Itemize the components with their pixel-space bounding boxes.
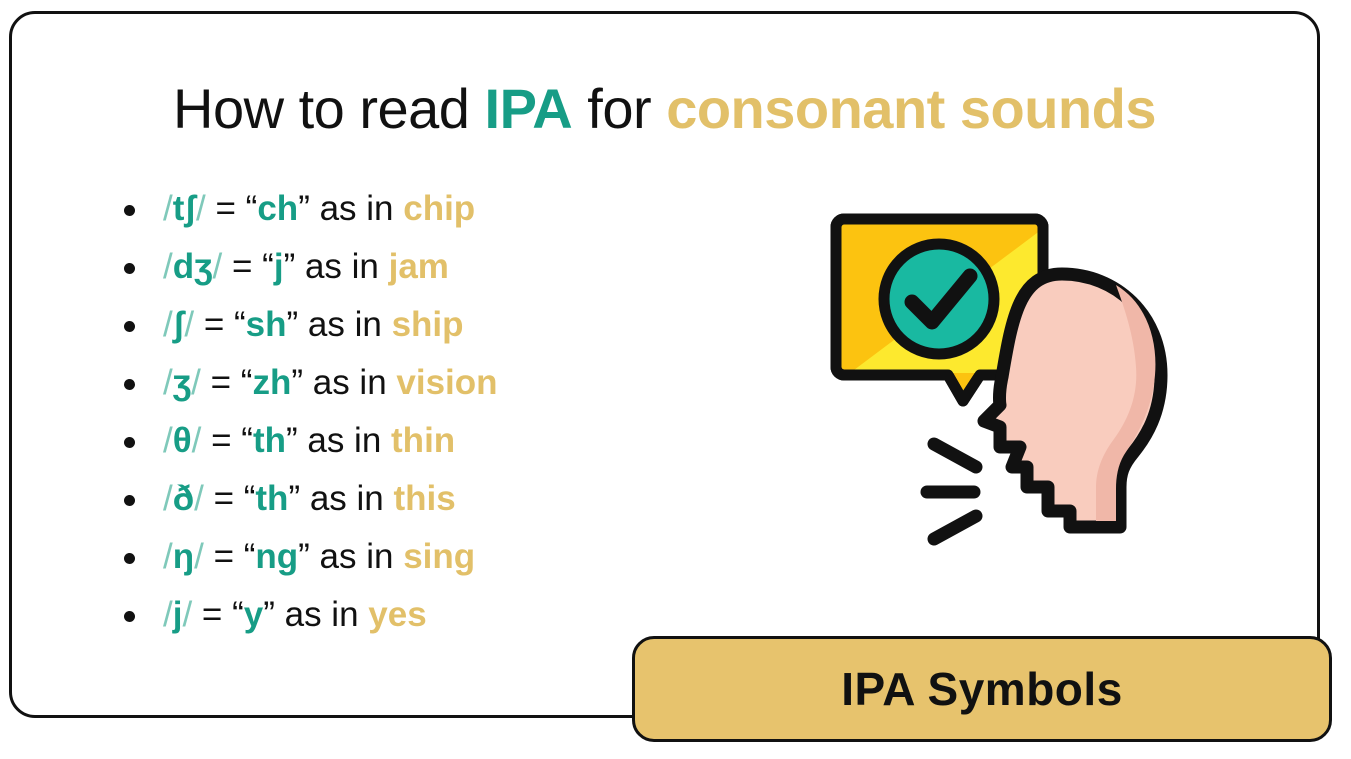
badge-ipa-symbols: IPA Symbols [632, 636, 1332, 742]
equals-sign: = [206, 189, 246, 228]
slash-close: / [196, 189, 206, 228]
as-in-text: as in [298, 305, 391, 344]
slash-open: / [163, 595, 173, 634]
ipa-symbol-list: /tʃ/ = “ch” as in chip /dʒ/ = “j” as in … [117, 180, 757, 644]
quote-open: “ [241, 363, 253, 402]
page-title: How to read IPA for consonant sounds [12, 77, 1317, 141]
list-item: /ð/ = “th” as in this [117, 470, 757, 528]
list-item: /dʒ/ = “j” as in jam [117, 238, 757, 296]
badge-label: IPA Symbols [841, 662, 1123, 716]
spelling: zh [252, 363, 291, 402]
quote-close: ” [286, 421, 298, 460]
list-item: /θ/ = “th” as in thin [117, 412, 757, 470]
infographic-canvas: How to read IPA for consonant sounds /tʃ… [0, 0, 1351, 759]
spelling: ng [255, 537, 298, 576]
quote-open: “ [246, 189, 258, 228]
bullet-icon [124, 553, 135, 564]
ipa-symbol-glyph: j [173, 595, 183, 634]
title-part-1: How to read [173, 77, 485, 140]
quote-open: “ [232, 595, 244, 634]
equals-sign: = [201, 363, 241, 402]
bullet-icon [124, 495, 135, 506]
ipa-symbol: /j/ [163, 595, 192, 634]
quote-open: “ [241, 421, 253, 460]
quote-close: ” [298, 189, 310, 228]
slash-close: / [182, 595, 192, 634]
spelling: th [253, 421, 286, 460]
as-in-text: as in [300, 479, 393, 518]
check-icon [884, 244, 994, 354]
quote-close: ” [287, 305, 299, 344]
bullet-icon [124, 379, 135, 390]
slash-open: / [163, 305, 173, 344]
ipa-symbol-glyph: ʃ [173, 305, 185, 344]
quote-close: ” [298, 537, 310, 576]
ipa-symbol-glyph: dʒ [173, 247, 213, 286]
ipa-symbol: /ŋ/ [163, 537, 204, 576]
list-item: /ʒ/ = “zh” as in vision [117, 354, 757, 412]
quote-close: ” [291, 363, 303, 402]
ipa-symbol-glyph: ŋ [173, 537, 194, 576]
ipa-symbol: /dʒ/ [163, 247, 222, 286]
equals-sign: = [204, 479, 244, 518]
ipa-symbol: /ʃ/ [163, 305, 194, 344]
equals-sign: = [222, 247, 262, 286]
quote-open: “ [244, 537, 256, 576]
quote-open: “ [234, 305, 246, 344]
quote-close: ” [288, 479, 300, 518]
quote-close: ” [263, 595, 275, 634]
ipa-symbol: /θ/ [163, 421, 201, 460]
spelling: ch [257, 189, 298, 228]
equals-sign: = [201, 421, 241, 460]
bullet-icon [124, 321, 135, 332]
bullet-icon [124, 263, 135, 274]
slash-open: / [163, 189, 173, 228]
ipa-symbol: /ʒ/ [163, 363, 201, 402]
equals-sign: = [192, 595, 232, 634]
spelling: y [244, 595, 263, 634]
ipa-symbol-glyph: θ [173, 421, 192, 460]
ipa-symbol-glyph: ʒ [173, 363, 191, 402]
as-in-text: as in [303, 363, 396, 402]
as-in-text: as in [310, 189, 403, 228]
slash-open: / [163, 363, 173, 402]
quote-close: ” [284, 247, 296, 286]
slash-open: / [163, 247, 173, 286]
example-word: vision [396, 363, 497, 402]
list-item: /ŋ/ = “ng” as in sing [117, 528, 757, 586]
example-word: jam [389, 247, 449, 286]
spelling: th [255, 479, 288, 518]
slash-open: / [163, 537, 173, 576]
spelling: j [274, 247, 284, 286]
bullet-icon [124, 205, 135, 216]
as-in-text: as in [298, 421, 391, 460]
slash-open: / [163, 421, 173, 460]
speaking-head-icon [984, 274, 1161, 527]
slash-close: / [194, 479, 204, 518]
slash-close: / [184, 305, 194, 344]
slash-close: / [191, 363, 201, 402]
quote-open: “ [244, 479, 256, 518]
slash-close: / [194, 537, 204, 576]
example-word: chip [403, 189, 475, 228]
ipa-symbol-glyph: ð [173, 479, 194, 518]
as-in-text: as in [275, 595, 368, 634]
title-accent-consonant-sounds: consonant sounds [666, 77, 1156, 140]
ipa-symbol: /tʃ/ [163, 189, 206, 228]
ipa-symbol: /ð/ [163, 479, 204, 518]
speaking-head-illustration [824, 199, 1204, 589]
list-item: /tʃ/ = “ch” as in chip [117, 180, 757, 238]
slash-close: / [192, 421, 202, 460]
slash-open: / [163, 479, 173, 518]
equals-sign: = [204, 537, 244, 576]
example-word: yes [368, 595, 426, 634]
as-in-text: as in [310, 537, 403, 576]
title-accent-ipa: IPA [485, 77, 573, 140]
as-in-text: as in [295, 247, 388, 286]
ipa-symbol-glyph: tʃ [173, 189, 196, 228]
slash-close: / [213, 247, 223, 286]
main-card: How to read IPA for consonant sounds /tʃ… [9, 11, 1320, 718]
speech-lines-icon [927, 444, 976, 539]
example-word: sing [403, 537, 475, 576]
spelling: sh [246, 305, 287, 344]
list-item: /ʃ/ = “sh” as in ship [117, 296, 757, 354]
bullet-icon [124, 437, 135, 448]
example-word: thin [391, 421, 455, 460]
title-part-2: for [572, 77, 666, 140]
quote-open: “ [262, 247, 274, 286]
example-word: ship [392, 305, 464, 344]
example-word: this [394, 479, 456, 518]
equals-sign: = [194, 305, 234, 344]
bullet-icon [124, 611, 135, 622]
